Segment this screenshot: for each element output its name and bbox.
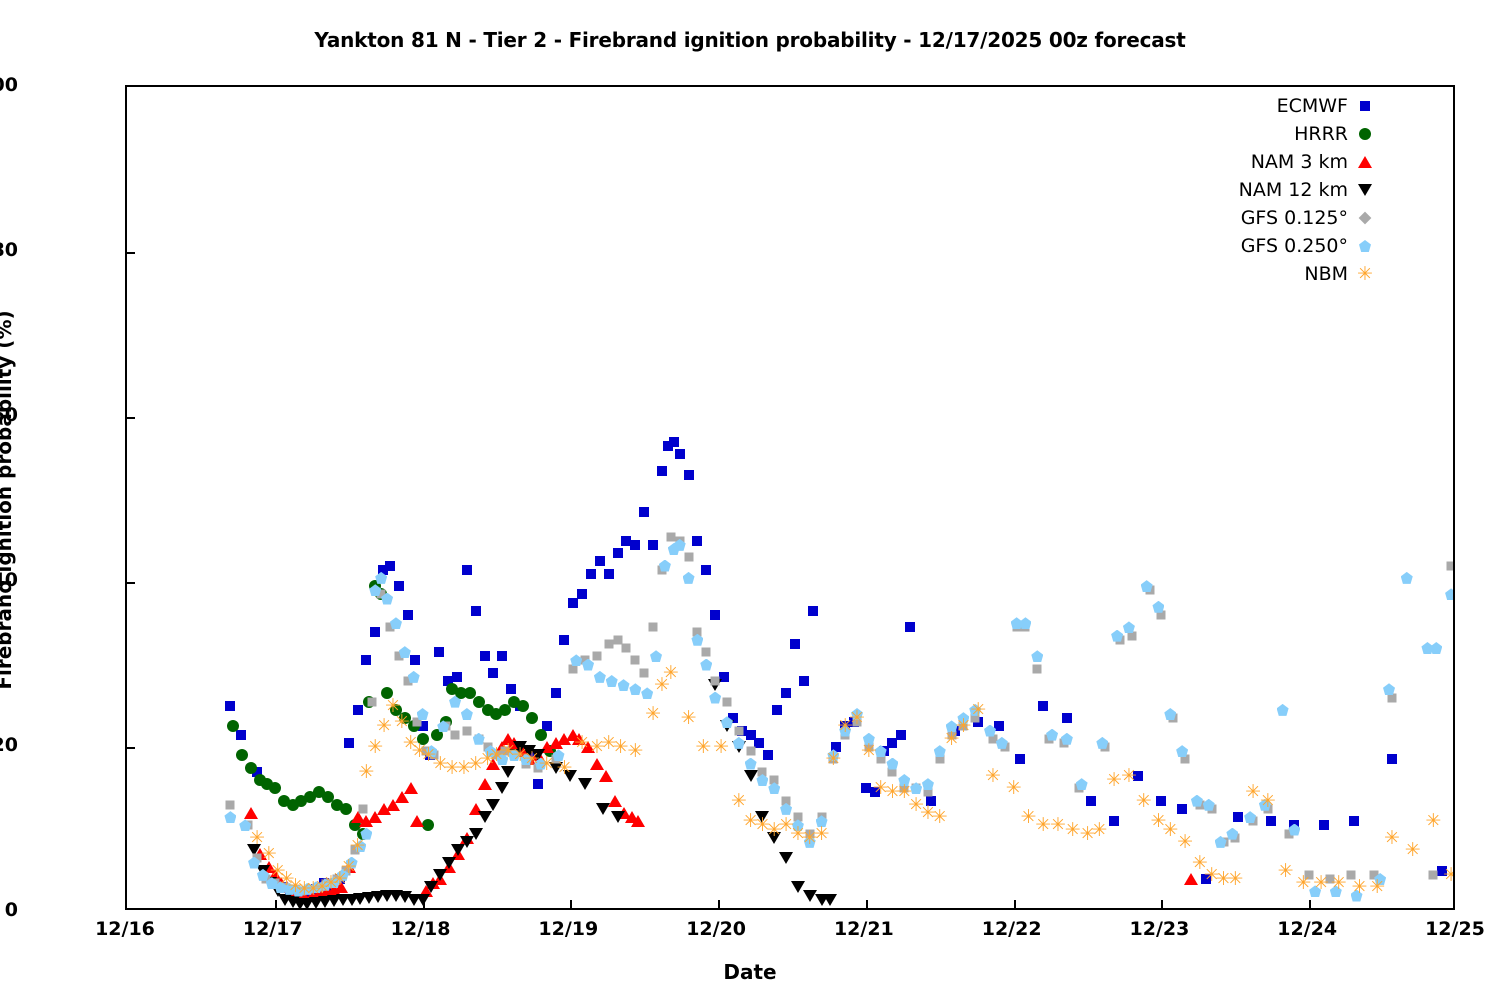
- y-axis-tick: [125, 582, 135, 584]
- x-axis-tick-label: 12/25: [1425, 918, 1485, 940]
- y-axis-tick-label: 0: [0, 899, 18, 921]
- y-axis-tick-label: 100: [0, 74, 18, 96]
- y-axis-tick: [125, 747, 135, 749]
- chart-root: Yankton 81 N - Tier 2 - Firebrand igniti…: [0, 0, 1500, 1000]
- x-axis-tick-label: 12/20: [686, 918, 746, 940]
- x-axis-tick: [1161, 900, 1163, 910]
- x-axis-tick-label: 12/19: [538, 918, 598, 940]
- x-axis-tick: [570, 900, 572, 910]
- legend-item-nam-12-km[interactable]: NAM 12 km: [1175, 176, 1400, 204]
- x-axis-tick-label: 12/17: [243, 918, 303, 940]
- legend-item-nbm[interactable]: NBM✳: [1175, 260, 1400, 288]
- legend-item-ecmwf[interactable]: ECMWF: [1175, 92, 1400, 120]
- chart-title: Yankton 81 N - Tier 2 - Firebrand igniti…: [0, 28, 1500, 52]
- legend-label: ECMWF: [1277, 92, 1348, 120]
- legend-item-hrrr[interactable]: HRRR: [1175, 120, 1400, 148]
- x-axis-tick-label: 12/24: [1277, 918, 1337, 940]
- x-axis-tick: [275, 900, 277, 910]
- y-axis-tick-label: 20: [0, 734, 18, 756]
- y-axis-tick: [125, 417, 135, 419]
- x-axis-tick-label: 12/16: [95, 918, 155, 940]
- y-axis-tick-label: 60: [0, 404, 18, 426]
- legend-item-nam-3-km[interactable]: NAM 3 km: [1175, 148, 1400, 176]
- x-axis-tick-label: 12/22: [982, 918, 1042, 940]
- x-axis-tick: [423, 900, 425, 910]
- x-axis-title: Date: [0, 960, 1500, 984]
- legend-label: GFS 0.250°: [1241, 232, 1348, 260]
- x-axis-tick-label: 12/23: [1130, 918, 1190, 940]
- x-axis-tick-label: 12/18: [391, 918, 451, 940]
- y-axis-tick-label: 40: [0, 569, 18, 591]
- x-axis-tick: [718, 900, 720, 910]
- legend-label: GFS 0.125°: [1241, 204, 1348, 232]
- legend-item-gfs-0-250[interactable]: GFS 0.250°: [1175, 232, 1400, 260]
- legend-label: HRRR: [1294, 120, 1348, 148]
- chart-legend: ECMWFHRRRNAM 3 kmNAM 12 kmGFS 0.125°GFS …: [1175, 92, 1400, 288]
- x-axis-tick: [1309, 900, 1311, 910]
- y-axis-title: Firebrand ignition probability (%): [0, 310, 16, 689]
- legend-label: NAM 12 km: [1239, 176, 1348, 204]
- x-axis-tick: [866, 900, 868, 910]
- x-axis-tick: [1014, 900, 1016, 910]
- x-axis-tick-label: 12/21: [834, 918, 894, 940]
- legend-item-gfs-0-125[interactable]: GFS 0.125°: [1175, 204, 1400, 232]
- legend-label: NAM 3 km: [1251, 148, 1348, 176]
- y-axis-tick-label: 80: [0, 239, 18, 261]
- y-axis-tick: [125, 252, 135, 254]
- legend-label: NBM: [1304, 260, 1348, 288]
